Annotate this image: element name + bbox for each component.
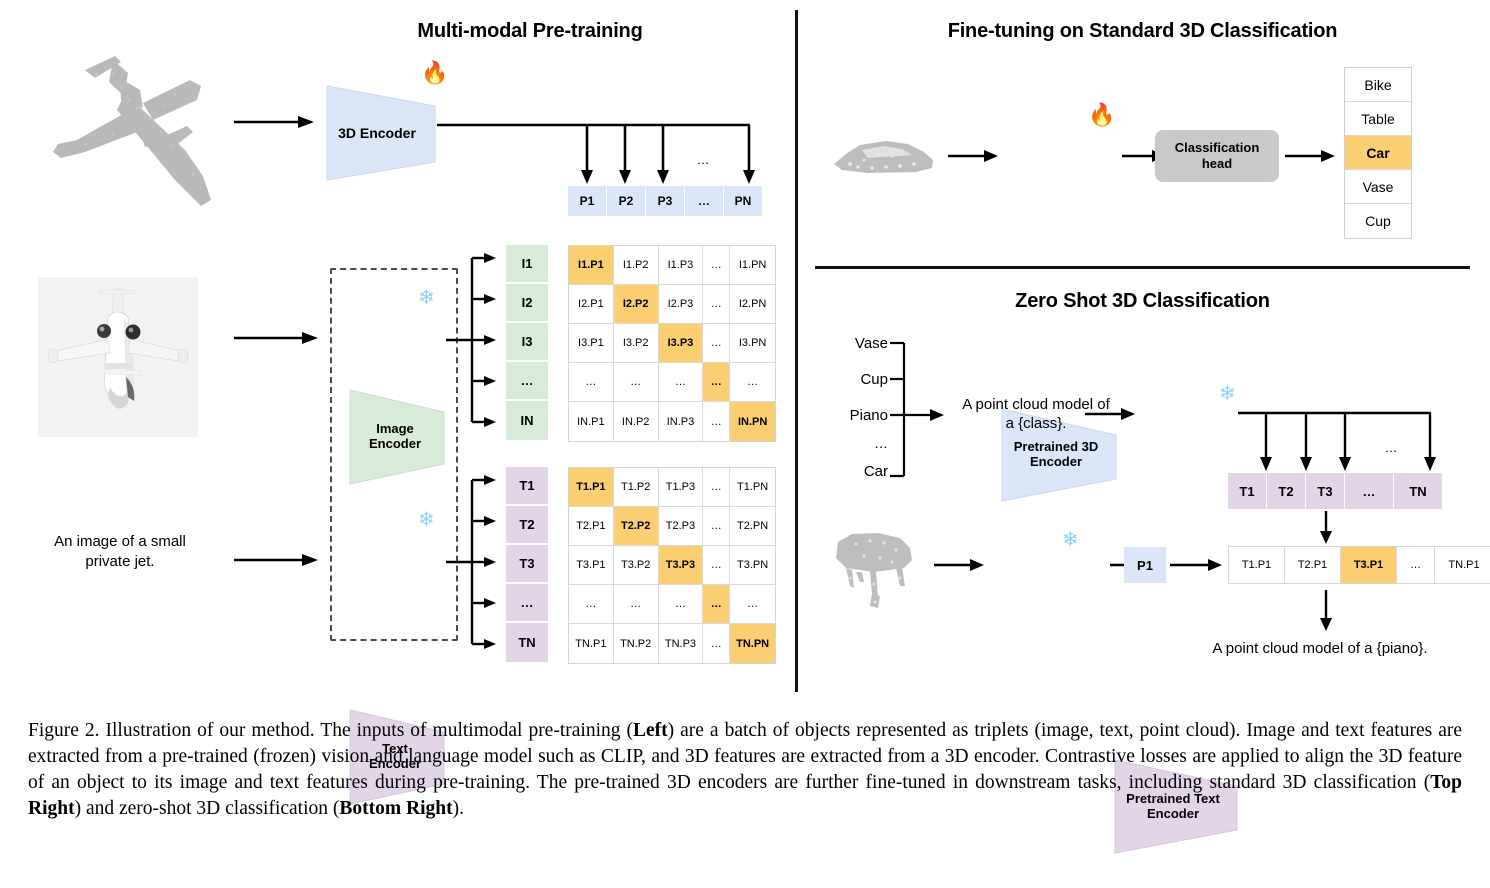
point-token[interactable]: P1 (568, 186, 606, 216)
arrow-pointcloud-to-3d-encoder (234, 114, 314, 130)
matrix-cell: TN.P3 (659, 624, 704, 663)
airplane-point-cloud (25, 48, 235, 218)
matrix-cell: T1.P1 (569, 468, 614, 507)
zeroshot-class-item[interactable]: Piano (826, 406, 888, 424)
matrix-cell: … (703, 324, 730, 363)
matrix-cell: T3.P2 (614, 546, 659, 585)
arrow-scores-to-result (1318, 590, 1334, 632)
zeroshot-score-cell: … (1397, 547, 1435, 583)
zeroshot-text-token[interactable]: T1 (1228, 473, 1266, 509)
matrix-row: I2.P1I2.P2I2.P3…I2.PN (569, 285, 775, 324)
matrix-cell: I3.P1 (569, 324, 614, 363)
figure-caption: Figure 2. Illustration of our method. Th… (28, 718, 1462, 822)
image-point-similarity-matrix: I1.P1I1.P2I1.P3…I1.PNI2.P1I2.P2I2.P3…I2.… (568, 245, 776, 442)
matrix-row: …………… (569, 363, 775, 402)
matrix-cell: I1.P1 (569, 246, 614, 285)
arrow-text-to-text-encoder (234, 552, 318, 568)
piano-point-cloud (826, 528, 926, 614)
text-token[interactable]: T2 (506, 506, 548, 545)
text-point-similarity-matrix: T1.P1T1.P2T1.P3…T1.PNT2.P1T2.P2T2.P3…T2.… (568, 467, 776, 664)
point-token-row: P1 P2 P3 … PN (568, 186, 762, 216)
matrix-cell: T2.P1 (569, 507, 614, 546)
zeroshot-score-row: T1.P1T2.P1T3.P1…TN.P1 (1228, 546, 1490, 584)
matrix-cell: T2.P2 (614, 507, 659, 546)
point-token[interactable]: P2 (607, 186, 645, 216)
zeroshot-text-token[interactable]: T2 (1267, 473, 1305, 509)
class-list-item[interactable]: Bike (1345, 68, 1411, 102)
text-input-caption: An image of a smallprivate jet. (20, 532, 220, 571)
pretrained-3d-encoder-label: Pretrained 3DEncoder (1000, 407, 1118, 503)
zeroshot-point-token[interactable]: P1 (1124, 547, 1166, 583)
matrix-cell: T3.P1 (569, 546, 614, 585)
arrow-head-to-classes (1285, 148, 1335, 164)
matrix-cell: IN.P2 (614, 402, 659, 441)
matrix-cell: … (614, 363, 659, 402)
text-encoder-block[interactable]: TextEncoder (348, 708, 446, 806)
matrix-row: T2.P1T2.P2T2.P3…T2.PN (569, 507, 775, 546)
matrix-cell: … (703, 285, 730, 324)
matrix-cell: … (703, 507, 730, 546)
matrix-cell: … (703, 585, 730, 624)
image-token[interactable]: I3 (506, 323, 548, 362)
vertical-divider (795, 10, 798, 692)
zeroshot-score-cell: TN.P1 (1435, 547, 1490, 583)
3d-encoder-label: 3D Encoder (325, 84, 437, 182)
matrix-cell: I1.P3 (659, 246, 704, 285)
text-encoder-to-tokens-connector (1238, 405, 1438, 475)
point-token[interactable]: P3 (646, 186, 684, 216)
text-token-stack: T1 T2 T3 … TN (506, 467, 548, 662)
zeroshot-score-cell: T3.P1 (1341, 547, 1397, 583)
matrix-cell: T3.P3 (659, 546, 704, 585)
pretrained-3d-encoder-block-finetune[interactable]: Pretrained 3DEncoder (1000, 407, 1118, 503)
fire-icon: 🔥 (1088, 104, 1115, 126)
matrix-cell: … (659, 363, 704, 402)
fire-icon: 🔥 (421, 62, 448, 84)
matrix-cell: IN.P1 (569, 402, 614, 441)
top-right-panel-title: Fine-tuning on Standard 3D Classificatio… (815, 20, 1470, 43)
class-list-item[interactable]: Vase (1345, 170, 1411, 204)
caption-text: ) and zero-shot 3D classification ( (75, 798, 340, 819)
jet-render-image (38, 277, 198, 437)
matrix-cell: T1.PN (730, 468, 775, 507)
zeroshot-class-item[interactable]: Car (826, 462, 888, 480)
caption-text: ). (453, 798, 464, 819)
text-token[interactable]: T3 (506, 545, 548, 584)
image-token[interactable]: … (506, 362, 548, 401)
zeroshot-class-list: Vase Cup Piano … Car (826, 334, 888, 480)
classification-head-box[interactable]: Classificationhead (1155, 130, 1279, 182)
caption-text: Figure 2. Illustration of our method. Th… (28, 720, 633, 741)
matrix-cell: … (730, 363, 775, 402)
zeroshot-text-token[interactable]: … (1345, 473, 1393, 509)
point-token[interactable]: PN (724, 186, 762, 216)
image-token[interactable]: IN (506, 401, 548, 440)
bottom-right-panel-title: Zero Shot 3D Classification (815, 290, 1470, 313)
matrix-cell: … (614, 585, 659, 624)
matrix-cell: … (703, 363, 730, 402)
matrix-cell: … (703, 402, 730, 441)
matrix-cell: … (569, 585, 614, 624)
matrix-row: …………… (569, 585, 775, 624)
snowflake-icon: ❄ (1062, 530, 1079, 550)
matrix-row: I3.P1I3.P2I3.P3…I3.PN (569, 324, 775, 363)
text-token[interactable]: T1 (506, 467, 548, 506)
matrix-cell: I3.P3 (659, 324, 704, 363)
matrix-row: TN.P1TN.P2TN.P3…TN.PN (569, 624, 775, 663)
matrix-row: T1.P1T1.P2T1.P3…T1.PN (569, 468, 775, 507)
matrix-cell: T1.P3 (659, 468, 704, 507)
image-encoder-fanout (446, 252, 498, 428)
matrix-cell: IN.PN (730, 402, 775, 441)
matrix-cell: TN.P1 (569, 624, 614, 663)
zeroshot-class-item[interactable]: Vase (826, 334, 888, 352)
matrix-cell: I2.PN (730, 285, 775, 324)
matrix-cell: … (659, 585, 704, 624)
matrix-cell: I2.P1 (569, 285, 614, 324)
point-token-ellipsis: … (690, 152, 716, 168)
caption-emphasis: Left (633, 720, 668, 741)
matrix-cell: T2.PN (730, 507, 775, 546)
matrix-cell: T3.PN (730, 546, 775, 585)
matrix-row: T3.P1T3.P2T3.P3…T3.PN (569, 546, 775, 585)
matrix-cell: … (703, 624, 730, 663)
pretrained-text-encoder-label: Pretrained TextEncoder (1113, 758, 1239, 855)
matrix-cell: T2.P3 (659, 507, 704, 546)
image-token-stack: I1 I2 I3 … IN (506, 245, 548, 440)
zeroshot-score-cell: T1.P1 (1229, 547, 1285, 583)
text-encoder-fanout (446, 474, 498, 650)
class-list-item[interactable]: Table (1345, 102, 1411, 136)
pretrained-text-encoder-block[interactable]: Pretrained TextEncoder (1113, 758, 1239, 855)
left-panel-title: Multi-modal Pre-training (270, 20, 790, 43)
arrow-tokens-to-scores (1318, 511, 1334, 545)
matrix-cell: IN.P3 (659, 402, 704, 441)
matrix-cell: I3.P2 (614, 324, 659, 363)
image-encoder-label: ImageEncoder (348, 388, 446, 486)
class-list: BikeTableCarVaseCup (1344, 67, 1412, 239)
snowflake-icon: ❄ (1219, 384, 1236, 404)
matrix-cell: I3.PN (730, 324, 775, 363)
matrix-row: I1.P1I1.P2I1.P3…I1.PN (569, 246, 775, 285)
zeroshot-score-cell: T2.P1 (1285, 547, 1341, 583)
matrix-cell: … (730, 585, 775, 624)
class-list-item[interactable]: Cup (1345, 204, 1411, 238)
matrix-cell: T1.P2 (614, 468, 659, 507)
text-encoder-label: TextEncoder (348, 708, 446, 806)
arrow-piano-to-encoder (934, 557, 984, 573)
figure-canvas: Multi-modal Pre-training (0, 0, 1490, 888)
zeroshot-text-token[interactable]: T3 (1306, 473, 1344, 509)
zeroshot-class-item: … (826, 434, 888, 452)
text-token[interactable]: … (506, 584, 548, 623)
matrix-cell: TN.P2 (614, 624, 659, 663)
3d-encoder-block[interactable]: 3D Encoder (325, 84, 437, 182)
matrix-cell: … (703, 246, 730, 285)
car-point-cloud (828, 128, 940, 188)
zeroshot-class-item[interactable]: Cup (826, 370, 888, 388)
matrix-cell: TN.PN (730, 624, 775, 663)
zeroshot-result-text: A point cloud model of a {piano}. (1155, 640, 1485, 659)
text-token-ellipsis: … (1378, 440, 1404, 456)
matrix-cell: … (569, 363, 614, 402)
matrix-cell: … (703, 546, 730, 585)
zeroshot-text-token-row: T1 T2 T3 … TN (1228, 473, 1442, 509)
matrix-cell: I1.P2 (614, 246, 659, 285)
horizontal-divider (815, 266, 1470, 269)
matrix-cell: I2.P3 (659, 285, 704, 324)
class-list-item[interactable]: Car (1345, 136, 1411, 170)
matrix-row: IN.P1IN.P2IN.P3…IN.PN (569, 402, 775, 441)
image-token[interactable]: I1 (506, 245, 548, 284)
matrix-cell: I2.P2 (614, 285, 659, 324)
image-token[interactable]: I2 (506, 284, 548, 323)
matrix-cell: … (703, 468, 730, 507)
arrow-image-to-image-encoder (234, 330, 318, 346)
arrow-car-to-encoder (948, 148, 998, 164)
arrow-p1-to-scores (1170, 557, 1222, 573)
zeroshot-text-token[interactable]: TN (1394, 473, 1442, 509)
point-token[interactable]: … (685, 186, 723, 216)
image-encoder-block[interactable]: ImageEncoder (348, 388, 446, 486)
snowflake-icon: ❄ (418, 288, 435, 308)
matrix-cell: I1.PN (730, 246, 775, 285)
snowflake-icon: ❄ (418, 510, 435, 530)
text-token[interactable]: TN (506, 623, 548, 662)
